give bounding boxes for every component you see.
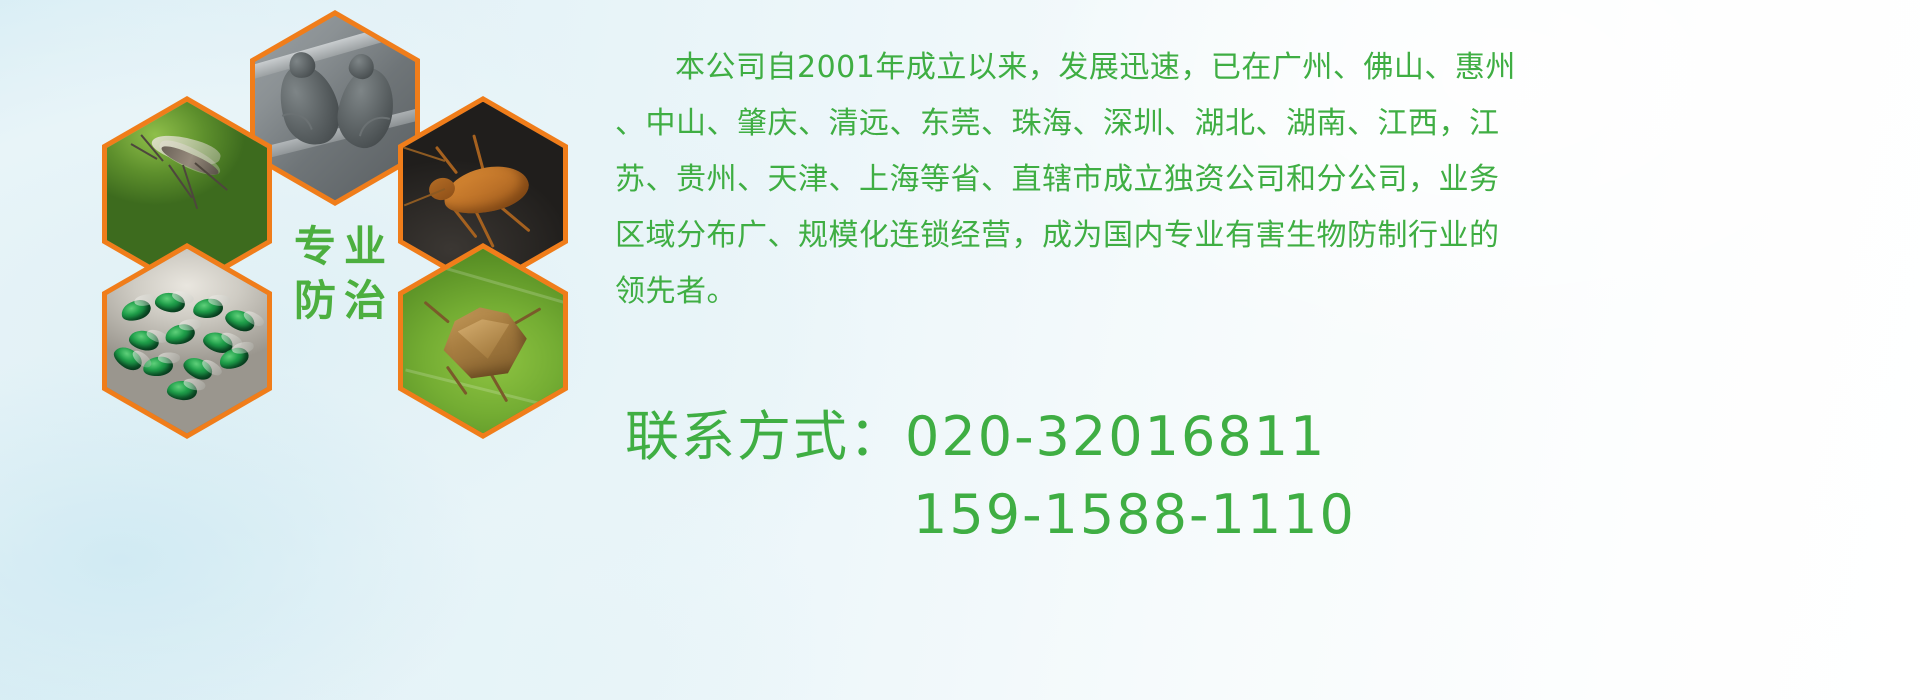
hex-cell-slogan: 专业 防治 — [250, 170, 420, 366]
slogan-line-1: 专业 — [286, 225, 394, 269]
contact-primary-row: 联系方式：020-32016811 — [625, 398, 1915, 476]
intro-line-4: 区域分布广、规模化连锁经营，成为国内专业有害生物防制行业的 — [615, 208, 1915, 264]
intro-line-1: 本公司自2001年成立以来，发展迅速，已在广州、佛山、惠州 — [615, 40, 1915, 96]
honeycomb-collage: 专业 防治 — [80, 10, 600, 590]
intro-line-2: 、中山、肇庆、清远、东莞、珠海、深圳、湖北、湖南、江西，江 — [615, 96, 1915, 152]
intro-line-5: 领先者。 — [615, 264, 1915, 320]
company-intro: 本公司自2001年成立以来，发展迅速，已在广州、佛山、惠州 、中山、肇庆、清远、… — [615, 40, 1915, 320]
contact-phone-secondary[interactable]: 159-1588-1110 — [625, 476, 1915, 554]
intro-line-3: 苏、贵州、天津、上海等省、直辖市成立独资公司和分公司，业务 — [615, 152, 1915, 208]
hex-cell-stink-bug — [398, 243, 568, 439]
hex-cell-flies — [102, 243, 272, 439]
contact-label: 联系方式： — [625, 405, 905, 468]
slogan-line-2: 防治 — [286, 279, 394, 323]
contact-phone-primary[interactable]: 020-32016811 — [905, 405, 1326, 468]
contact-block: 联系方式：020-32016811 159-1588-1110 — [625, 398, 1915, 554]
